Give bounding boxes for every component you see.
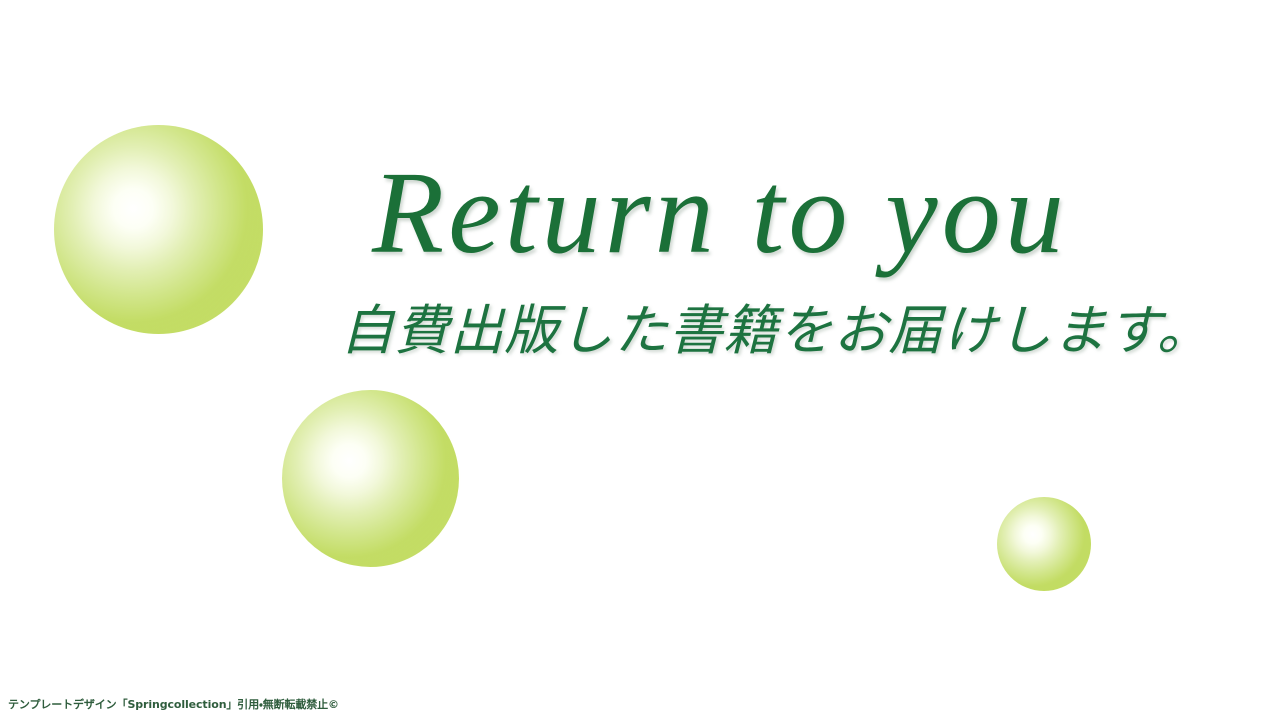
headline-block: Return to you 自費出版した書籍をお届けします。 [340, 150, 1100, 362]
footer-credit: テンプレートデザイン「Springcollection」引用・無断転載禁止© [8, 699, 339, 711]
slide-canvas: Return to you 自費出版した書籍をお届けします。 テンプレートデザイ… [0, 0, 1280, 720]
decorative-sphere-medium [282, 390, 459, 567]
page-title: Return to you [340, 150, 1100, 275]
decorative-sphere-small [997, 497, 1091, 591]
decorative-sphere-large [54, 125, 263, 334]
page-subtitle: 自費出版した書籍をお届けします。 [340, 301, 1100, 361]
